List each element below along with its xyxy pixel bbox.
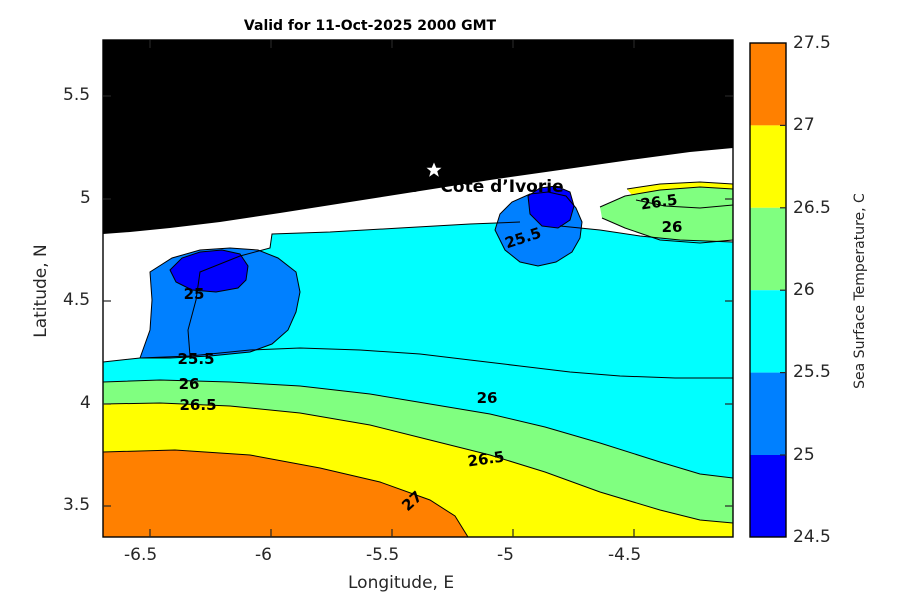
plot-canvas: [0, 0, 900, 600]
colorbar-tick-27: 27: [793, 115, 815, 135]
colorbar-tick-26.5: 26.5: [793, 198, 831, 218]
colorbar-band-6: [750, 43, 786, 125]
y-tick-label-5.5: 5.5: [63, 85, 90, 105]
x-tick-label--5.5: -5.5: [366, 545, 399, 565]
sst-contour-figure: Valid for 11-Oct-2025 2000 GMT: [0, 0, 900, 600]
colorbar-label: Sea Surface Temperature, C: [852, 191, 868, 391]
contour-label: 26: [179, 375, 200, 393]
y-tick-label-5: 5: [80, 188, 91, 208]
contour-label: 25: [184, 285, 205, 303]
colorbar-band-3: [750, 290, 786, 372]
colorbar-band-1: [750, 455, 786, 537]
colorbar-tick-27.5: 27.5: [793, 33, 831, 53]
x-tick-label--6: -6: [255, 545, 272, 565]
x-axis-label: Longitude, E: [348, 573, 454, 593]
x-tick-label--4.5: -4.5: [608, 545, 641, 565]
x-tick-label--5: -5: [497, 545, 514, 565]
y-axis-label: Latitude, N: [31, 236, 51, 346]
y-tick-label-4: 4: [80, 393, 91, 413]
colorbar-tick-25.5: 25.5: [793, 362, 831, 382]
contour-label: 25.5: [177, 350, 214, 368]
contour-label: 26.5: [179, 396, 216, 414]
colorbar-band-5: [750, 125, 786, 207]
x-tick-label--6.5: -6.5: [124, 545, 157, 565]
colorbar-band-2: [750, 373, 786, 455]
y-tick-label-3.5: 3.5: [63, 495, 90, 515]
contour-label: 26: [662, 218, 683, 236]
colorbar-tick-26: 26: [793, 280, 815, 300]
contour-label: 26: [477, 389, 498, 407]
y-tick-label-4.5: 4.5: [63, 290, 90, 310]
map-annotation: (ONHYM) PPL EBS – Cote d’Ivorie: [248, 177, 564, 197]
colorbar-band-4: [750, 208, 786, 290]
colorbar: [750, 43, 786, 537]
colorbar-tick-24.5: 24.5: [793, 527, 831, 547]
colorbar-tick-25: 25: [793, 445, 815, 465]
